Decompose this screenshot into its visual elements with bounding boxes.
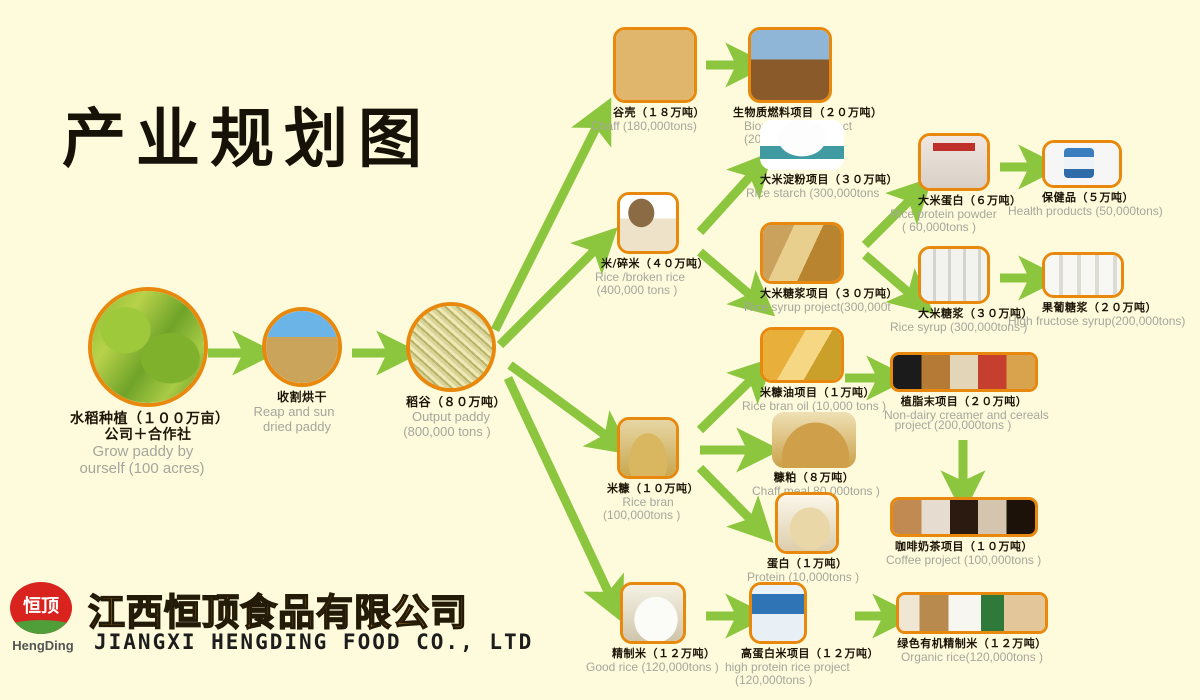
- node-chaff-meal[interactable]: 糠粕（８万吨） Chaff meal 80,000tons ): [772, 412, 856, 498]
- rice-bran-label-en2: (100,000tons ): [603, 509, 679, 523]
- rice-protein-powder-image: [918, 133, 990, 191]
- chaff-meal-label-cn: 糠粕（８万吨）: [772, 472, 856, 485]
- chaff-meal-image: [772, 412, 856, 468]
- reap-dry-image: [262, 307, 342, 387]
- chaff-label-en: Chaff (180,000tons): [591, 120, 697, 134]
- node-protein[interactable]: 蛋白（１万吨） Protein (10,000tons ): [775, 492, 839, 584]
- high-fructose-syrup-image: [1042, 252, 1124, 298]
- high-protein-rice-image: [749, 582, 807, 644]
- health-products-image: [1042, 140, 1122, 188]
- health-products-label-cn: 保健品（５万吨）: [1042, 192, 1122, 205]
- node-rice-starch[interactable]: 大米淀粉项目（３０万吨） Rice starch (300,000tons: [760, 120, 844, 200]
- node-coffee-project[interactable]: 咖啡奶茶项目（１０万吨） Coffee project (100,000tons…: [890, 497, 1038, 567]
- arrow-rice-to-starch: [700, 170, 756, 232]
- rice-bran-oil-label-cn: 米糠油项目（１万吨）: [760, 387, 844, 400]
- node-chaff[interactable]: 谷壳（１８万吨） Chaff (180,000tons): [613, 27, 697, 133]
- node-organic-rice[interactable]: 绿色有机精制米（１２万吨） Organic rice(120,000tons ): [896, 592, 1048, 664]
- rice-syrup-label-en: Rice syrup (300,000tons ): [890, 321, 990, 335]
- diagram-canvas: 产业规划图: [0, 0, 1200, 700]
- rice-broken-rice-label-en: Rice /broken rice: [595, 271, 679, 285]
- node-high-protein-rice[interactable]: 高蛋白米项目（１２万吨） high protein rice project (…: [749, 582, 807, 688]
- rice-protein-powder-label-cn: 大米蛋白（６万吨）: [918, 195, 990, 208]
- rice-syrup-project-label-en: Rice syrup project(300,000t: [744, 301, 844, 315]
- rice-starch-image: [760, 120, 844, 170]
- biomass-fuel-label-cn: 生物质燃料项目（２０万吨）: [733, 107, 832, 120]
- arrow-paddy-to-goodrice: [508, 378, 612, 600]
- chaff-label-cn: 谷壳（１８万吨）: [613, 107, 697, 120]
- non-dairy-creamer-label-cn: 植脂末项目（２０万吨）: [890, 396, 1038, 409]
- node-non-dairy-creamer[interactable]: 植脂末项目（２０万吨） Non-dairy creamer and cereal…: [890, 352, 1038, 433]
- high-protein-rice-label-en: high protein rice project: [725, 661, 807, 675]
- rice-syrup-project-image: [760, 222, 844, 284]
- reap-dry-label-en: Reap and sun: [246, 405, 342, 420]
- node-health-products[interactable]: 保健品（５万吨） Health products (50,000tons): [1042, 140, 1122, 218]
- protein-label-cn: 蛋白（１万吨）: [767, 558, 839, 571]
- non-dairy-creamer-image: [890, 352, 1038, 392]
- node-rice-bran[interactable]: 米糠（１０万吨） Rice bran (100,000tons ): [617, 417, 679, 523]
- coffee-project-label-cn: 咖啡奶茶项目（１０万吨）: [890, 541, 1038, 554]
- high-protein-rice-label-en2: (120,000tons ): [735, 674, 807, 688]
- node-output-paddy[interactable]: 稻谷（８０万吨） Output paddy (800,000 tons ): [406, 302, 496, 440]
- good-rice-label-en: Good rice (120,000tons ): [586, 661, 686, 675]
- high-protein-rice-label-cn: 高蛋白米项目（１２万吨）: [741, 648, 807, 661]
- rice-starch-label-cn: 大米淀粉项目（３０万吨）: [760, 174, 844, 187]
- rice-syrup-image: [918, 246, 990, 304]
- company-name-cn: 江西恒顶食品有限公司: [88, 582, 468, 636]
- node-good-rice[interactable]: 精制米（１２万吨） Good rice (120,000tons ): [620, 582, 686, 674]
- protein-image: [775, 492, 839, 554]
- rice-syrup-label-cn: 大米糖浆（３０万吨）: [918, 308, 990, 321]
- output-paddy-label-en2: (800,000 tons ): [398, 425, 496, 440]
- rice-bran-label-en: Rice bran: [617, 496, 679, 510]
- output-paddy-image: [406, 302, 496, 392]
- node-rice-syrup-project[interactable]: 大米糖浆项目（３０万吨） Rice syrup project(300,000t: [760, 222, 844, 314]
- arrow-bran-to-protein: [700, 468, 756, 525]
- good-rice-label-cn: 精制米（１２万吨）: [612, 648, 686, 661]
- node-rice-syrup[interactable]: 大米糖浆（３０万吨） Rice syrup (300,000tons ): [918, 246, 990, 334]
- rice-syrup-project-label-cn: 大米糖浆项目（３０万吨）: [760, 288, 844, 301]
- good-rice-image: [620, 582, 686, 644]
- coffee-project-image: [890, 497, 1038, 537]
- rice-protein-powder-label-en: Rice protein powder: [890, 208, 990, 222]
- node-rice-broken-rice[interactable]: 米/碎米（４０万吨） Rice /broken rice (400,000 to…: [617, 192, 679, 298]
- grow-paddy-label-cn: 水稻种植（１００万亩）: [70, 411, 208, 427]
- logo-mark-label-en: HengDing: [10, 638, 76, 653]
- rice-starch-label-en: Rice starch (300,000tons: [746, 187, 844, 201]
- node-reap-dry[interactable]: 收割烘干 Reap and sun dried paddy: [262, 307, 342, 435]
- arrow-paddy-to-bran: [510, 365, 612, 440]
- rice-bran-oil-image: [760, 327, 844, 383]
- rice-bran-label-cn: 米糠（１０万吨）: [607, 483, 679, 496]
- company-name-en: JIANGXI HENGDING FOOD CO., LTD: [94, 630, 533, 654]
- health-products-label-en: Health products (50,000tons): [1008, 205, 1122, 219]
- rice-broken-rice-label-en2: (400,000 tons ): [595, 284, 679, 298]
- grow-paddy-image: [88, 287, 208, 407]
- rice-protein-powder-label-en2: ( 60,000tons ): [888, 221, 990, 235]
- node-high-fructose-syrup[interactable]: 果葡糖浆（２０万吨） High fructose syrup(200,000to…: [1042, 252, 1124, 328]
- chaff-image: [613, 27, 697, 103]
- high-fructose-syrup-label-cn: 果葡糖浆（２０万吨）: [1042, 302, 1124, 315]
- grow-paddy-label-en2: ourself (100 acres): [76, 460, 208, 477]
- rice-broken-rice-image: [617, 192, 679, 254]
- node-rice-bran-oil[interactable]: 米糠油项目（１万吨） Rice bran oil (10,000 tons ): [760, 327, 844, 413]
- output-paddy-label-en: Output paddy: [406, 410, 496, 425]
- biomass-fuel-image: [748, 27, 832, 103]
- reap-dry-label-cn: 收割烘干: [262, 391, 342, 405]
- node-rice-protein-powder[interactable]: 大米蛋白（６万吨） Rice protein powder ( 60,000to…: [918, 133, 990, 235]
- logo-mark-label-cn: 恒顶: [10, 592, 72, 618]
- node-grow-paddy[interactable]: 水稻种植（１００万亩） 公司＋合作社 Grow paddy by ourself…: [88, 287, 208, 478]
- organic-rice-image: [896, 592, 1048, 634]
- high-fructose-syrup-label-en: High fructose syrup(200,000tons): [1008, 315, 1124, 329]
- rice-broken-rice-label-cn: 米/碎米（４０万吨）: [601, 258, 679, 271]
- organic-rice-label-en: Organic rice(120,000tons ): [896, 651, 1048, 665]
- organic-rice-label-cn: 绿色有机精制米（１２万吨）: [896, 638, 1048, 651]
- grow-paddy-label-cn2: 公司＋合作社: [88, 427, 208, 443]
- rice-bran-image: [617, 417, 679, 479]
- reap-dry-label-en2: dried paddy: [252, 420, 342, 435]
- output-paddy-label-cn: 稻谷（８０万吨）: [406, 396, 496, 410]
- coffee-project-label-en: Coffee project (100,000tons ): [886, 554, 1038, 568]
- grow-paddy-label-en: Grow paddy by: [78, 443, 208, 460]
